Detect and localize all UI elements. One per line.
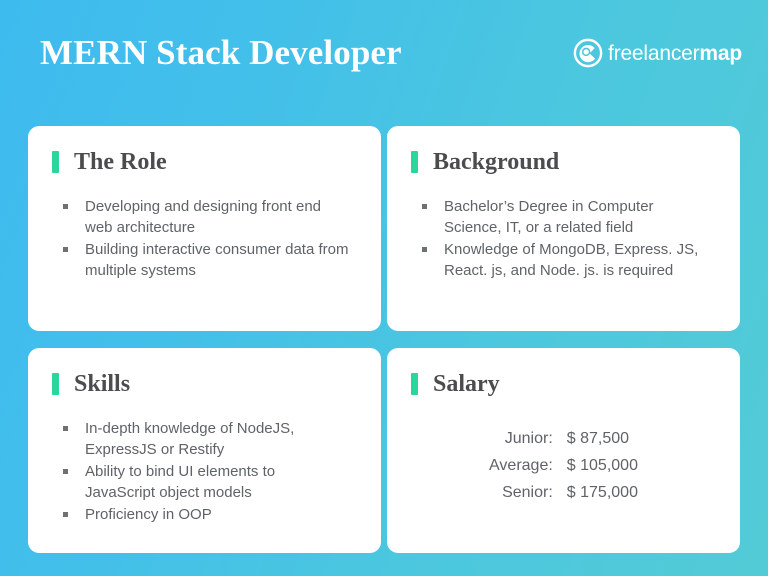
card-background: Background Bachelor’s Degree in Computer… (387, 126, 740, 331)
square-bullet-icon (422, 204, 427, 209)
salary-label: Senior: (489, 482, 560, 509)
salary-value: $ 87,500 (560, 428, 638, 455)
list-item-text: Bachelor’s Degree in Computer Science, I… (444, 198, 654, 236)
salary-table: Junior: $ 87,500 Average: $ 105,000 Seni… (489, 428, 638, 509)
bullet-list: Developing and designing front end web a… (52, 196, 357, 281)
list-item: Ability to bind UI elements to JavaScrip… (58, 461, 349, 503)
card-title: The Role (74, 148, 167, 176)
list-item: Knowledge of MongoDB, Express. JS, React… (417, 239, 708, 281)
list-item-text: Proficiency in OOP (85, 506, 212, 523)
list-item: Developing and designing front end web a… (58, 196, 349, 238)
brand-wordmark: freelancermap (608, 43, 742, 64)
salary-label: Average: (489, 455, 560, 482)
list-item: Proficiency in OOP (58, 504, 349, 525)
square-bullet-icon (422, 247, 427, 252)
list-item-text: Knowledge of MongoDB, Express. JS, React… (444, 241, 698, 279)
list-item-text: Building interactive consumer data from … (85, 241, 348, 279)
salary-value: $ 175,000 (560, 482, 638, 509)
accent-bar-icon (411, 151, 418, 173)
card-header: The Role (52, 148, 357, 176)
accent-bar-icon (52, 373, 59, 395)
card-title: Salary (433, 370, 500, 398)
card-the-role: The Role Developing and designing front … (28, 126, 381, 331)
brand-word-map: map (699, 42, 742, 65)
square-bullet-icon (63, 426, 68, 431)
list-item-text: Developing and designing front end web a… (85, 198, 321, 236)
bullet-list: In-depth knowledge of NodeJS, ExpressJS … (52, 418, 357, 525)
accent-bar-icon (52, 151, 59, 173)
salary-row-average: Average: $ 105,000 (489, 455, 638, 482)
card-salary: Salary Junior: $ 87,500 Average: $ 105,0… (387, 348, 740, 553)
list-item-text: Ability to bind UI elements to JavaScrip… (85, 463, 275, 501)
salary-label: Junior: (489, 428, 560, 455)
accent-bar-icon (411, 373, 418, 395)
salary-row-senior: Senior: $ 175,000 (489, 482, 638, 509)
list-item: In-depth knowledge of NodeJS, ExpressJS … (58, 418, 349, 460)
page-title: MERN Stack Developer (40, 31, 402, 75)
card-header: Background (411, 148, 716, 176)
cards-grid: The Role Developing and designing front … (28, 126, 740, 553)
salary-row-junior: Junior: $ 87,500 (489, 428, 638, 455)
card-title: Skills (74, 370, 130, 398)
square-bullet-icon (63, 247, 68, 252)
freelancermap-swirl-icon (573, 38, 603, 68)
bullet-list: Bachelor’s Degree in Computer Science, I… (411, 196, 716, 281)
brand-word-freelancer: freelancer (608, 42, 699, 65)
list-item: Bachelor’s Degree in Computer Science, I… (417, 196, 708, 238)
infographic-poster: MERN Stack Developer freelancermap The R… (0, 0, 768, 576)
card-header: Salary (411, 370, 716, 398)
list-item: Building interactive consumer data from … (58, 239, 349, 281)
header: MERN Stack Developer freelancermap (0, 0, 768, 110)
list-item-text: In-depth knowledge of NodeJS, ExpressJS … (85, 420, 294, 458)
card-skills: Skills In-depth knowledge of NodeJS, Exp… (28, 348, 381, 553)
square-bullet-icon (63, 469, 68, 474)
card-title: Background (433, 148, 559, 176)
square-bullet-icon (63, 204, 68, 209)
square-bullet-icon (63, 512, 68, 517)
salary-value: $ 105,000 (560, 455, 638, 482)
brand-logo: freelancermap (573, 36, 742, 70)
card-header: Skills (52, 370, 357, 398)
